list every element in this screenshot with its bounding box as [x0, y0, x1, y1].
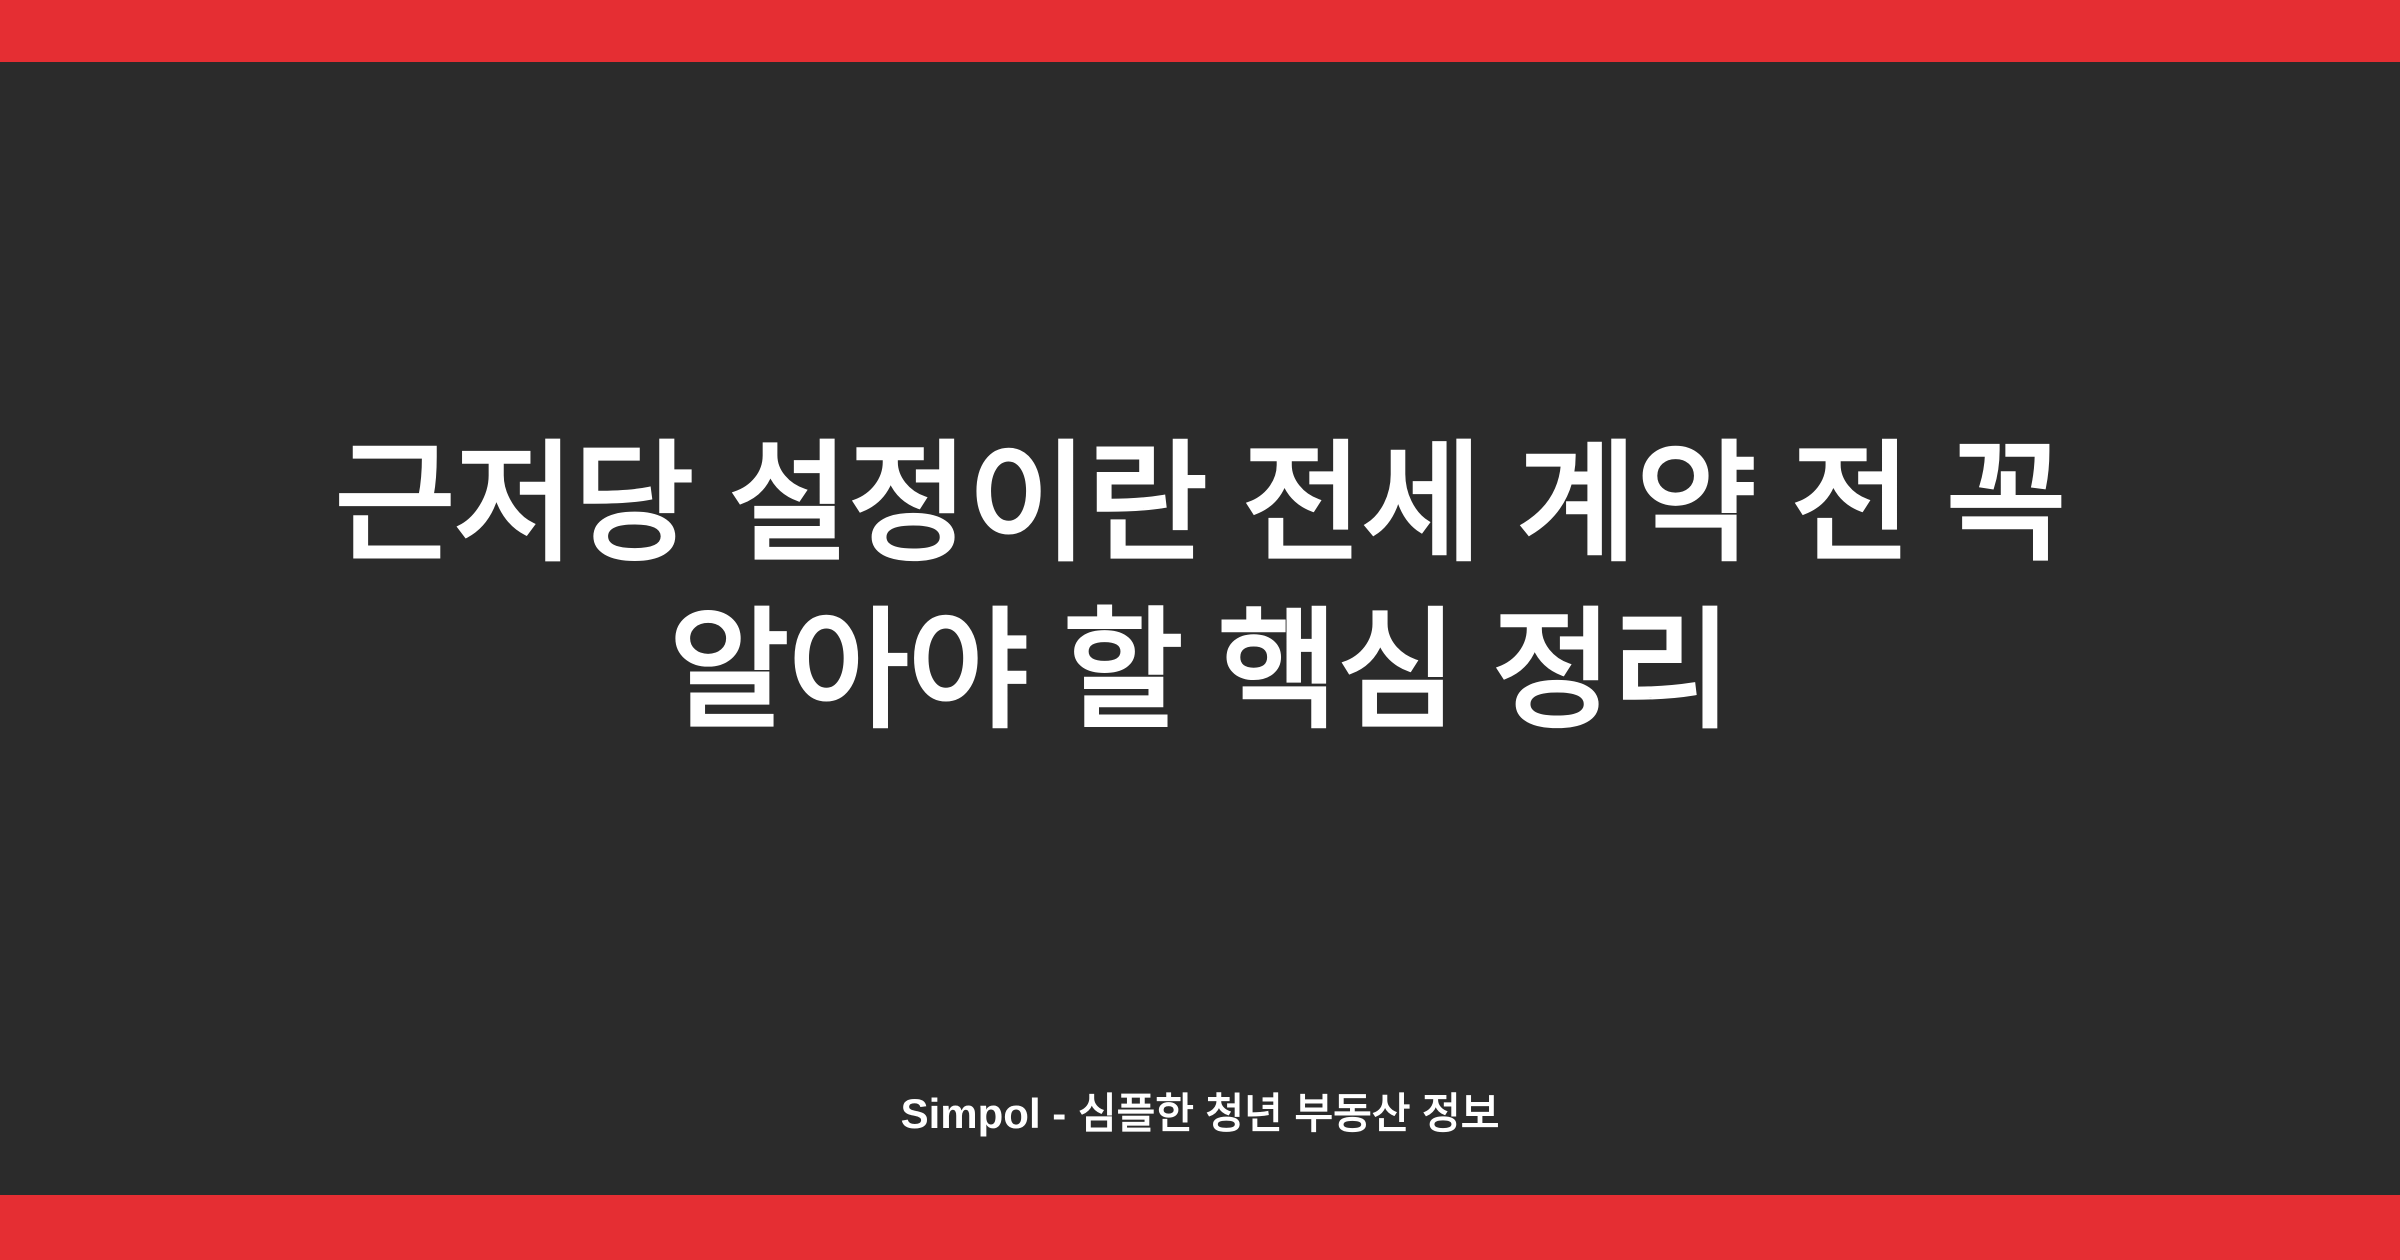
thumbnail-card: 근저당 설정이란 전세 계약 전 꼭 알아야 할 핵심 정리 Simpol - … [0, 0, 2400, 1260]
brand-tagline: Simpol - 심플한 청년 부동산 정보 [901, 1088, 1500, 1140]
brand-footer: Simpol - 심플한 청년 부동산 정보 [0, 1088, 2400, 1140]
headline-line-2: 알아야 할 핵심 정리 [200, 587, 2200, 754]
headline-block: 근저당 설정이란 전세 계약 전 꼭 알아야 할 핵심 정리 [0, 0, 2400, 1260]
headline-line-1: 근저당 설정이란 전세 계약 전 꼭 [200, 420, 2200, 587]
accent-bar-bottom [0, 1195, 2400, 1260]
page-title: 근저당 설정이란 전세 계약 전 꼭 알아야 할 핵심 정리 [200, 420, 2200, 754]
